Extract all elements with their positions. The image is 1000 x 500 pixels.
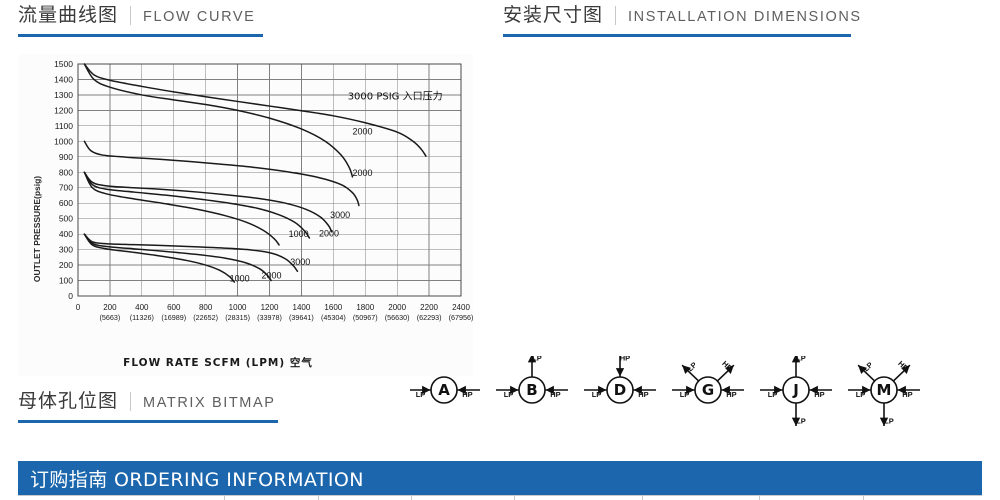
chart-x-tick-labels: 0200(5663)400(11326)600(16989)800(22652)… (76, 303, 473, 322)
ordering-table-header-row (18, 495, 982, 500)
svg-text:800: 800 (199, 303, 213, 312)
section-title-en-matrix: MATRIX BITMAP (143, 396, 276, 411)
svg-text:(5663): (5663) (100, 313, 121, 322)
svg-text:3000: 3000 (290, 257, 310, 267)
port-label: HP (726, 390, 736, 399)
svg-text:(67956): (67956) (449, 313, 473, 322)
svg-text:1300: 1300 (54, 90, 73, 100)
svg-text:100: 100 (59, 276, 73, 286)
ordering-table-column[interactable] (412, 496, 515, 500)
port-label: LP (532, 356, 542, 363)
section-title-en-flow-curve: FLOW CURVE (143, 10, 255, 25)
svg-text:3000: 3000 (330, 210, 350, 220)
svg-text:400: 400 (59, 229, 73, 239)
port-letter: D (614, 381, 626, 399)
svg-text:1000: 1000 (229, 303, 247, 312)
port-label: HP (814, 390, 824, 399)
svg-text:(62293): (62293) (417, 313, 442, 322)
svg-text:3000 PSIG 入口压力: 3000 PSIG 入口压力 (348, 89, 443, 102)
port-letter: A (438, 381, 450, 399)
section-heading-matrix: 母体孔位图 MATRIX BITMAP (18, 392, 276, 411)
svg-text:200: 200 (59, 260, 73, 270)
svg-text:(39641): (39641) (289, 313, 314, 322)
port-letter: G (702, 381, 714, 399)
port-diagram-b: LPHPLPB (496, 356, 568, 403)
flow-curve-chart-panel: 0100200300400500600700800900100011001200… (18, 54, 473, 376)
svg-text:2000: 2000 (352, 126, 372, 136)
svg-text:300: 300 (59, 245, 73, 255)
svg-text:1100: 1100 (55, 121, 74, 131)
port-diagram-g: LPHPLPHPG (672, 359, 744, 403)
svg-text:1000: 1000 (54, 136, 73, 146)
svg-text:2400: 2400 (452, 303, 470, 312)
svg-text:0: 0 (76, 303, 81, 312)
svg-text:1000: 1000 (230, 273, 250, 283)
port-letter: B (526, 381, 537, 399)
ordering-table-column[interactable] (225, 496, 319, 500)
port-label: LP (504, 390, 514, 399)
svg-text:200: 200 (103, 303, 117, 312)
svg-text:2000: 2000 (352, 168, 372, 178)
section-title-cn-installation: 安装尺寸图 (503, 6, 603, 25)
ordering-information-label: 订购指南 ORDERING INFORMATION (18, 465, 364, 492)
section-title-en-installation: INSTALLATION DIMENSIONS (628, 10, 862, 25)
port-label: LP (592, 390, 602, 399)
port-diagram-j: LPHPLPLPJ (760, 356, 832, 426)
svg-text:(28315): (28315) (225, 313, 250, 322)
svg-text:1200: 1200 (261, 303, 279, 312)
svg-text:400: 400 (135, 303, 149, 312)
section-rule-flow-curve (18, 34, 263, 37)
port-label: HP (620, 356, 630, 363)
heading-divider (130, 392, 131, 411)
svg-text:1000: 1000 (289, 229, 309, 239)
port-diagram-row: LPHPALPHPLPBLPHPHPDLPHPLPHPGLPHPLPLPJLPH… (410, 356, 990, 430)
svg-text:(56630): (56630) (385, 313, 410, 322)
ordering-table-column[interactable] (643, 496, 761, 500)
port-label: LP (416, 390, 426, 399)
port-arrow (616, 368, 624, 376)
port-label: LP (796, 356, 806, 363)
svg-text:(45304): (45304) (321, 313, 346, 322)
svg-text:0: 0 (68, 291, 73, 301)
svg-text:1200: 1200 (54, 105, 73, 115)
port-label: HP (902, 390, 912, 399)
svg-text:2000: 2000 (319, 229, 339, 239)
section-rule-matrix (18, 420, 278, 423)
section-heading-installation: 安装尺寸图 INSTALLATION DIMENSIONS (503, 6, 862, 25)
svg-text:(11326): (11326) (130, 313, 154, 322)
svg-text:1400: 1400 (54, 74, 73, 84)
svg-text:2000: 2000 (388, 303, 406, 312)
svg-text:600: 600 (59, 198, 73, 208)
section-rule-installation (503, 34, 851, 37)
chart-y-axis-title: OUTLET PRESSURE(psig) (32, 176, 42, 282)
svg-text:1500: 1500 (54, 59, 73, 69)
port-label: LP (768, 390, 778, 399)
datasheet-page: 流量曲线图 FLOW CURVE 安装尺寸图 INSTALLATION DIME… (0, 0, 1000, 500)
chart-curve-labels: 3000 PSIG 入口压力20002000300020001000300020… (230, 89, 443, 283)
port-label: LP (796, 416, 806, 425)
section-title-cn-flow-curve: 流量曲线图 (18, 6, 118, 25)
port-diagrams: LPHPALPHPLPBLPHPHPDLPHPLPHPGLPHPLPLPJLPH… (410, 356, 990, 430)
svg-text:2000: 2000 (262, 270, 282, 280)
svg-text:(50967): (50967) (353, 313, 378, 322)
port-letter: J (792, 381, 799, 399)
svg-text:(22652): (22652) (193, 313, 218, 322)
svg-text:1800: 1800 (356, 303, 374, 312)
ordering-table-column[interactable] (515, 496, 642, 500)
svg-text:1400: 1400 (293, 303, 311, 312)
section-heading-flow-curve: 流量曲线图 FLOW CURVE (18, 6, 255, 25)
port-label: LP (884, 416, 894, 425)
port-label: HP (638, 390, 648, 399)
port-diagram-d: LPHPHPD (584, 356, 656, 403)
port-letter: M (877, 381, 892, 399)
port-label: LP (856, 390, 866, 399)
chart-y-tick-labels: 0100200300400500600700800900100011001200… (54, 59, 73, 301)
svg-text:(33978): (33978) (257, 313, 282, 322)
port-diagram-m: LPHPLPHPLPM (848, 359, 920, 426)
svg-text:500: 500 (59, 214, 73, 224)
svg-text:(16989): (16989) (161, 313, 186, 322)
port-diagram-a: LPHPA (410, 377, 480, 403)
svg-text:800: 800 (59, 167, 73, 177)
heading-divider (130, 6, 131, 25)
ordering-table-column[interactable] (864, 496, 982, 500)
flow-curve-chart: 0100200300400500600700800900100011001200… (18, 54, 473, 376)
svg-text:900: 900 (59, 152, 73, 162)
chart-x-axis-title: FLOW RATE SCFM (LPM) 空气 (123, 356, 313, 369)
svg-text:600: 600 (167, 303, 181, 312)
svg-text:1600: 1600 (324, 303, 342, 312)
ordering-table-column[interactable] (760, 496, 864, 500)
port-label: HP (462, 390, 472, 399)
svg-text:2200: 2200 (420, 303, 438, 312)
heading-divider (615, 6, 616, 25)
port-label: LP (680, 390, 690, 399)
svg-text:700: 700 (59, 183, 73, 193)
section-title-cn-matrix: 母体孔位图 (18, 392, 118, 411)
ordering-table-column[interactable] (18, 496, 225, 500)
port-label: HP (550, 390, 560, 399)
ordering-information-banner: 订购指南 ORDERING INFORMATION (18, 461, 982, 495)
ordering-table-column[interactable] (319, 496, 413, 500)
